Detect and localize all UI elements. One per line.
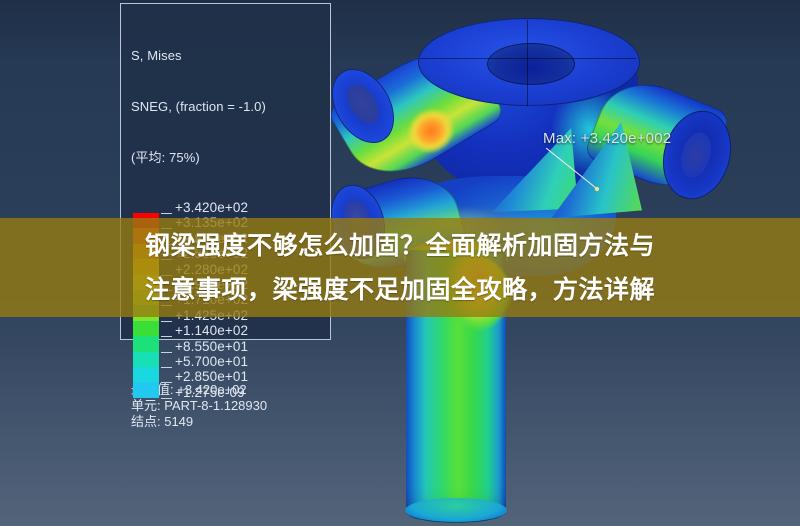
- max-stress-annotation: Max: +3.420e+002: [543, 130, 671, 147]
- legend-tick: [161, 321, 172, 322]
- legend-value: +1.140e+02: [175, 323, 248, 338]
- legend-value: +5.700e+01: [175, 354, 248, 369]
- legend-tick: [161, 336, 172, 337]
- legend-swatch: [133, 321, 159, 336]
- legend-swatch: [133, 336, 159, 351]
- model-mesh-line-horizontal: [420, 58, 636, 59]
- overlay-caption-band: 钢梁强度不够怎么加固？全面解析加固方法与 注意事项，梁强度不足加固全攻略，方法详…: [0, 218, 800, 317]
- legend-header: S, Mises SNEG, (fraction = -1.0) (平均: 75…: [131, 13, 330, 200]
- legend-footer-node: 结点: 5149: [131, 414, 330, 430]
- model-mesh-line-vertical: [527, 20, 528, 106]
- legend-tick: [161, 398, 172, 399]
- overlay-caption-line-2: 注意事项，梁强度不足加固全攻略，方法详解: [145, 268, 655, 312]
- legend-swatch: [133, 382, 159, 397]
- legend-tick: [161, 352, 172, 353]
- legend-subtitle: SNEG, (fraction = -1.0): [131, 98, 330, 115]
- max-leader-line: [540, 148, 620, 194]
- legend-value: +1.275e-09: [175, 385, 248, 400]
- legend-title: S, Mises: [131, 47, 330, 64]
- legend-tick: [161, 213, 172, 214]
- model-hub-bore: [487, 43, 575, 85]
- legend-average: (平均: 75%): [131, 149, 330, 166]
- legend-value: +2.850e+01: [175, 369, 248, 384]
- overlay-caption-line-1: 钢梁强度不够怎么加固？全面解析加固方法与: [145, 224, 655, 268]
- screenshot-root: Max: +3.420e+002 S, Mises SNEG, (fractio…: [0, 0, 800, 526]
- legend-footer-element: 单元: PART-8-1.128930: [131, 398, 330, 414]
- legend-value: +3.420e+02: [175, 200, 248, 215]
- legend-value: +8.550e+01: [175, 339, 248, 354]
- legend-tick: [161, 382, 172, 383]
- legend-swatch: [133, 367, 159, 382]
- legend-tick: [161, 367, 172, 368]
- legend-swatch: [133, 352, 159, 367]
- model-shaft-bottom-face: [405, 498, 507, 523]
